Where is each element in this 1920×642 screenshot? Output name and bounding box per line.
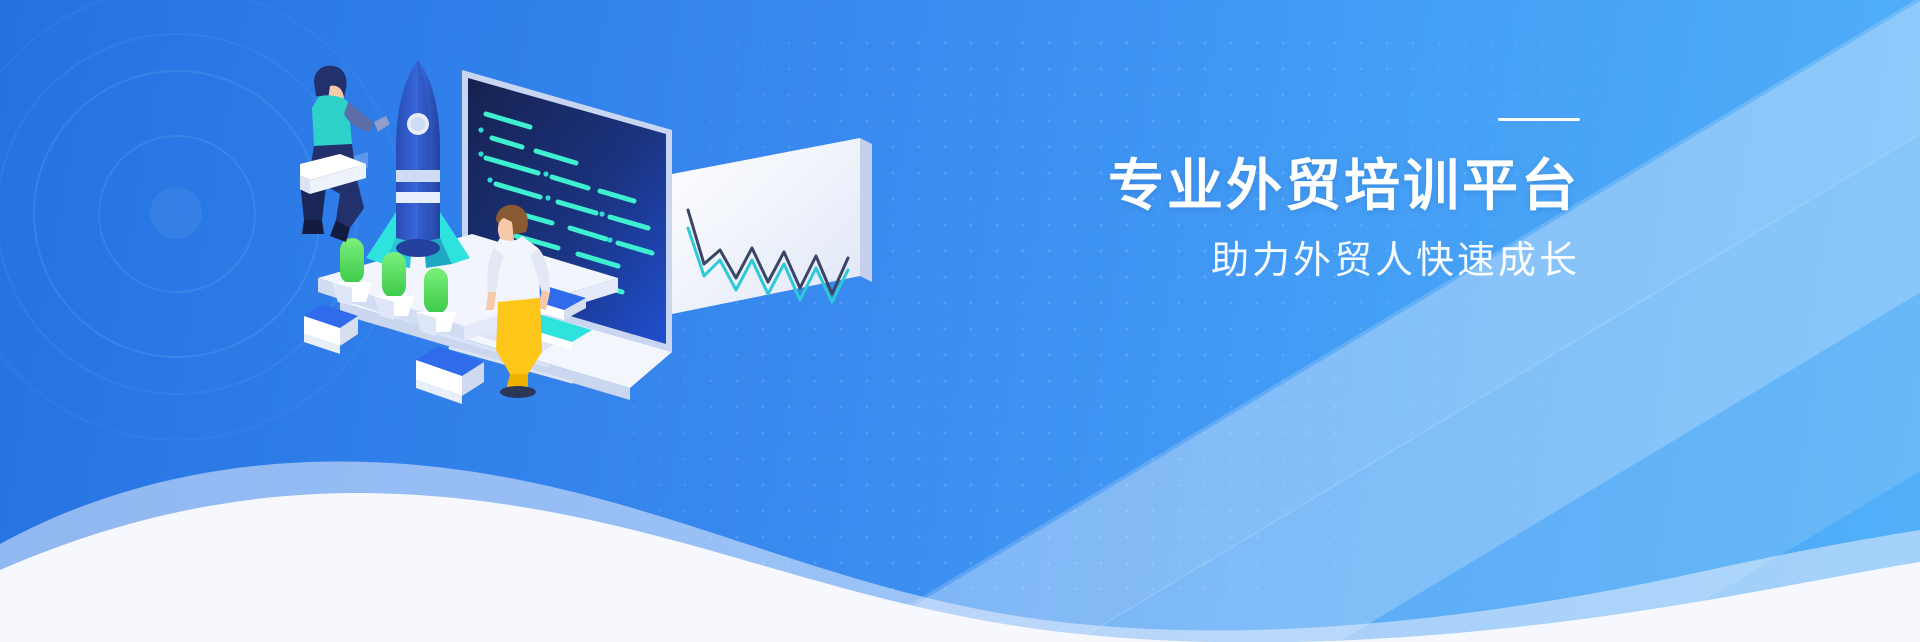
hero-copy: 专业外贸培训平台 助力外贸人快速成长 — [1080, 118, 1580, 283]
page-title: 专业外贸培训平台 — [1080, 156, 1580, 215]
rocket — [366, 60, 470, 268]
hero-illustration — [300, 52, 1020, 432]
hero-banner: 专业外贸培训平台 助力外贸人快速成长 — [0, 0, 1920, 642]
chart-card — [672, 138, 872, 314]
page-subtitle: 助力外贸人快速成长 — [1080, 241, 1580, 283]
ring-3 — [33, 70, 321, 358]
ring-1-center-dot — [150, 187, 202, 239]
decorative-rule — [1498, 118, 1580, 121]
isometric-scene-svg — [300, 52, 1020, 432]
person-sitting — [300, 66, 390, 242]
ring-2 — [98, 135, 256, 293]
bottom-wave-decoration — [0, 452, 1920, 642]
